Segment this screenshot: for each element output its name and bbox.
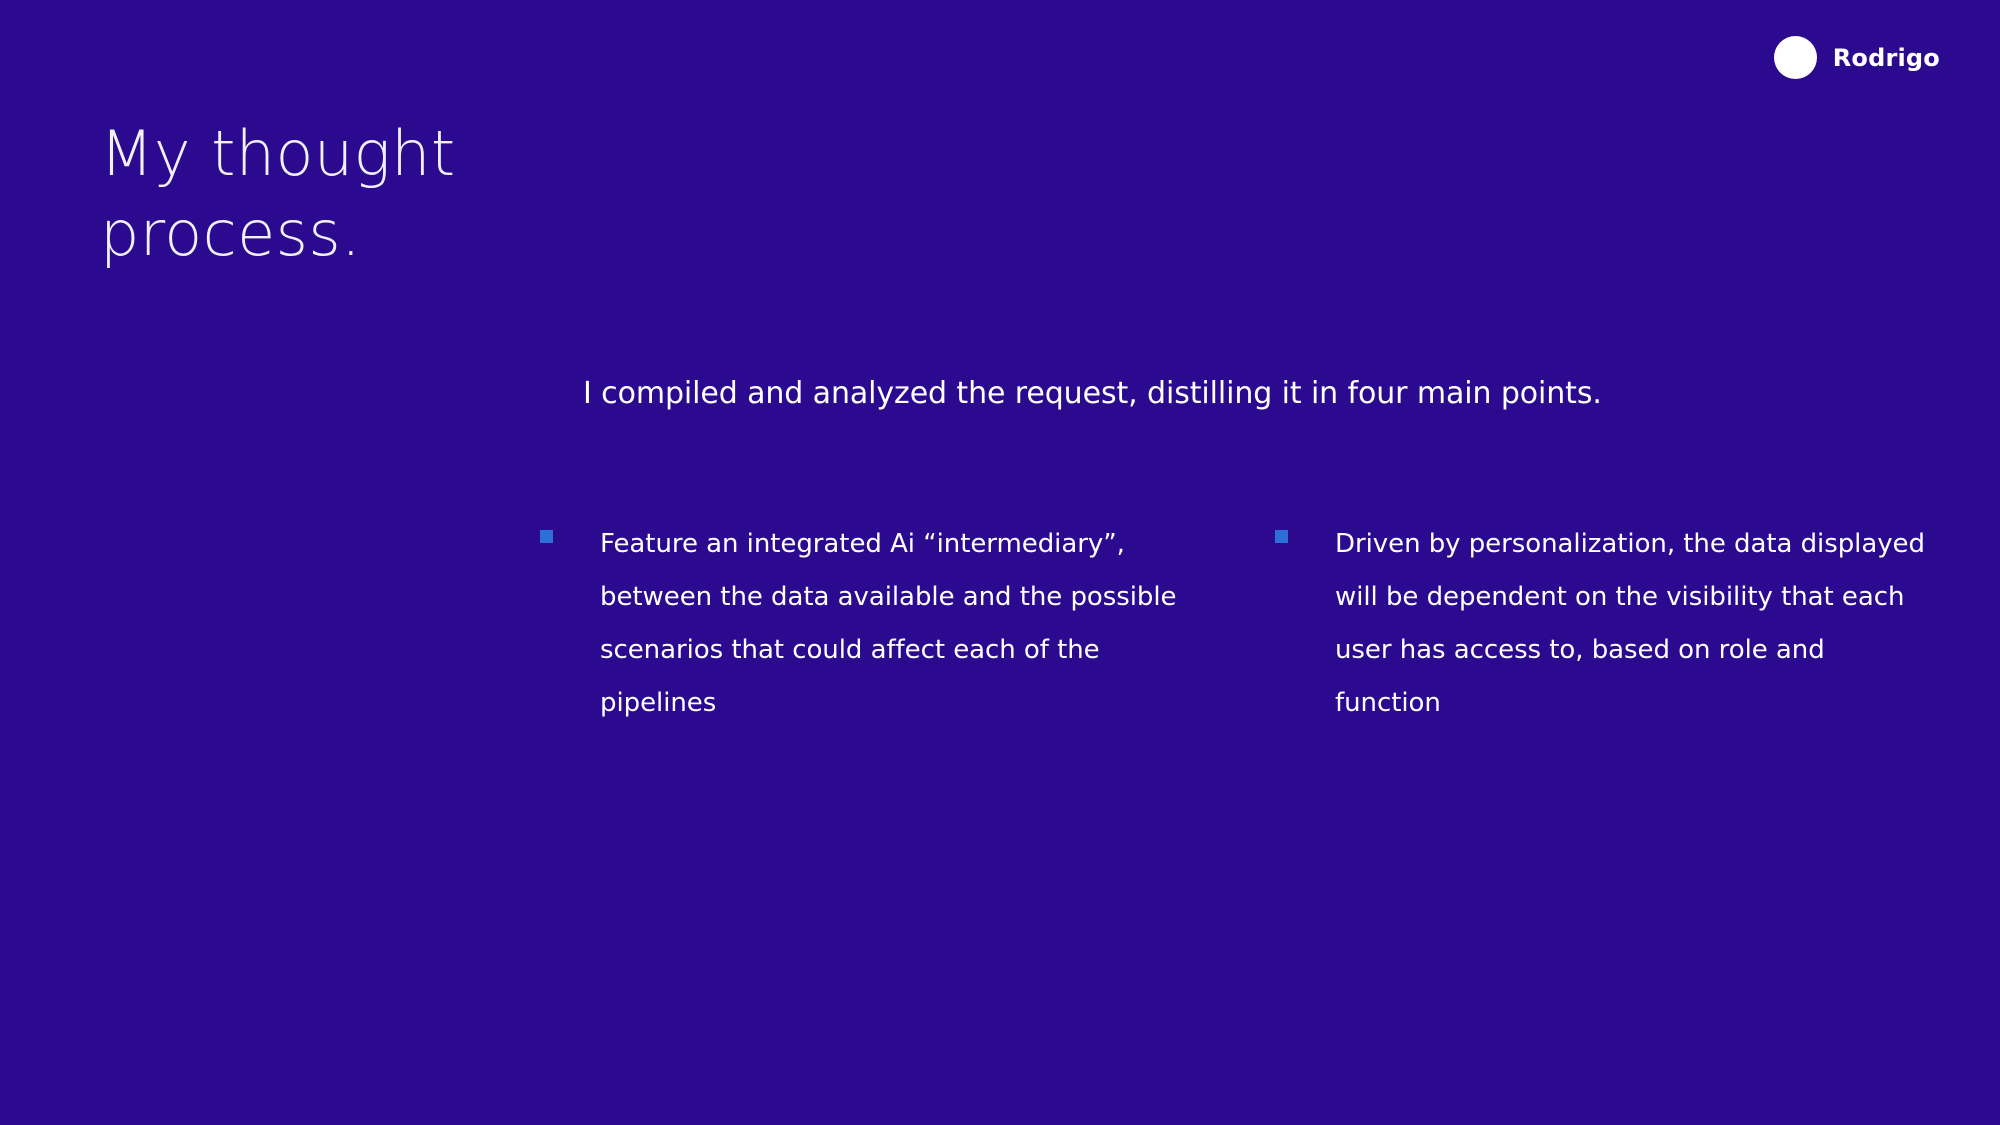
page-title: My thought process. — [100, 114, 1000, 274]
square-bullet-icon — [540, 530, 553, 543]
avatar — [1774, 36, 1817, 79]
bullet-list: Feature an integrated Ai “intermediary”,… — [540, 518, 1940, 730]
square-bullet-icon — [1275, 530, 1288, 543]
slide-subtitle: I compiled and analyzed the request, dis… — [583, 374, 1883, 414]
list-item: Feature an integrated Ai “intermediary”,… — [540, 518, 1200, 730]
page-title-line-2: process. — [100, 194, 1000, 274]
page-title-line-1: My thought — [100, 114, 1000, 194]
list-item: Driven by personalization, the data disp… — [1275, 518, 1935, 730]
list-item-text: Driven by personalization, the data disp… — [1335, 518, 1935, 730]
presenter-badge: Rodrigo — [1774, 36, 1940, 79]
list-item-text: Feature an integrated Ai “intermediary”,… — [600, 518, 1200, 730]
presentation-slide: Rodrigo My thought process. I compiled a… — [0, 0, 2000, 1125]
presenter-name: Rodrigo — [1833, 46, 1940, 70]
